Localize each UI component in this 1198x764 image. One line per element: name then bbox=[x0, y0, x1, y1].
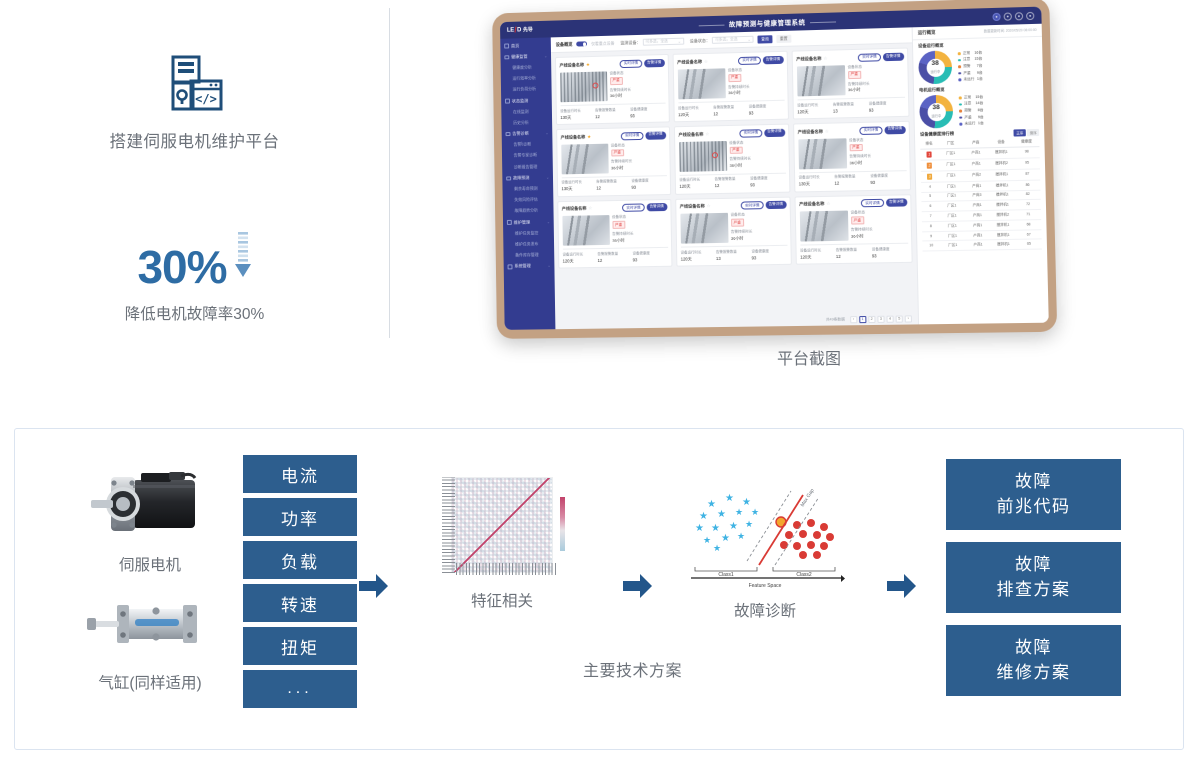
device-photo bbox=[562, 216, 610, 247]
device-card[interactable]: 产线设备名称 ☆ 实时详情 告警详情 bbox=[673, 51, 789, 122]
duration-value: 36小时 bbox=[611, 164, 666, 171]
sidebar-item-label: 健康度分析 bbox=[512, 64, 532, 70]
sidebar-group-label: 状态监测 bbox=[512, 98, 528, 104]
bell-icon[interactable]: ● bbox=[1004, 12, 1012, 20]
status-filter-placeholder: 可多选，全选 bbox=[715, 37, 738, 43]
status-badge: 严重 bbox=[729, 146, 742, 154]
help-icon[interactable]: ● bbox=[1015, 12, 1023, 20]
foot-value: 120天 bbox=[679, 183, 714, 190]
foot-label: 告警报警数量 bbox=[716, 249, 752, 255]
legend-row: 注意14台 bbox=[959, 101, 983, 107]
foot-cell: 告警报警数量12 bbox=[713, 104, 749, 117]
cell-health: 65 bbox=[1016, 242, 1042, 248]
col-vendor: 产商 bbox=[963, 141, 988, 147]
foot-label: 告警报警数量 bbox=[834, 174, 870, 180]
donut-chart-row: 38 运行中 正常16台 注意15台 预警7台 严重9台 bbox=[918, 48, 1038, 84]
page-button-4[interactable]: 4 bbox=[886, 315, 893, 322]
sidebar-item-label: 失效风险评估 bbox=[514, 197, 537, 203]
col-rank: 排名 bbox=[920, 142, 938, 147]
prev-page-button[interactable]: ‹ bbox=[850, 316, 857, 323]
top-section: </> 搭建伺服电机维护平台 30% bbox=[0, 0, 1198, 400]
tablet-device: LE / D 先导 故障预测与健康管理系统 ● ● ● ● bbox=[492, 0, 1057, 339]
sidebar-item-label: 首页 bbox=[511, 43, 519, 49]
cell-plant: 厂区1 bbox=[940, 223, 965, 229]
foot-value: 93 bbox=[750, 182, 786, 188]
cell-health: 95 bbox=[1014, 160, 1040, 167]
foot-cell: 告警报警数量12 bbox=[715, 177, 751, 190]
card-body: 设备状态 严重 告警持续时长 36小时 bbox=[677, 67, 784, 100]
card-body: 设备状态 严重 告警持续时长 36小时 bbox=[562, 214, 668, 246]
realtime-detail-button[interactable]: 实时详情 bbox=[620, 59, 642, 68]
status-badge: 严重 bbox=[848, 71, 861, 79]
cell-plant: 厂区1 bbox=[939, 213, 964, 219]
card-row: 产线设备名称 ★ 实时详情 告警详情 bbox=[555, 48, 910, 125]
donut-legend: 正常15台 注意14台 预警8台 严重9台 未运行1台 bbox=[959, 95, 984, 127]
page-button-3[interactable]: 3 bbox=[877, 315, 884, 322]
star-icon[interactable]: ★ bbox=[586, 62, 590, 68]
reset-button[interactable]: 重置 bbox=[776, 34, 791, 43]
cell-plant: 厂区1 bbox=[938, 162, 963, 169]
device-card[interactable]: 产线设备名称 ☆ 实时详情 告警详情 bbox=[557, 199, 672, 269]
card-buttons: 实时详情 告警详情 bbox=[740, 128, 785, 137]
tab-descending[interactable]: 倒序 bbox=[1027, 129, 1039, 136]
foot-label: 设备运行时长 bbox=[561, 180, 596, 186]
legend-dot bbox=[958, 59, 961, 62]
cell-device: 搅拌机1 bbox=[990, 202, 1016, 208]
stat-percent-caption: 降低电机故障率30% bbox=[125, 302, 265, 324]
device-photo bbox=[561, 143, 608, 174]
source-label: 气缸(同样适用) bbox=[98, 671, 201, 693]
donut-legend: 正常16台 注意15台 预警7台 严重9台 未运行1台 bbox=[958, 50, 983, 82]
foot-label: 设备运行时长 bbox=[562, 252, 597, 258]
status-filter-select[interactable]: 可多选，全选 ⌄ bbox=[712, 36, 754, 44]
status-badge: 严重 bbox=[731, 219, 744, 227]
svg-text:</>: </> bbox=[195, 92, 217, 106]
realtime-detail-button[interactable]: 实时详情 bbox=[741, 201, 763, 210]
card-header: 产线设备名称 ☆ 实时详情 告警详情 bbox=[677, 56, 783, 67]
alarm-detail-button[interactable]: 告警详情 bbox=[644, 59, 665, 68]
card-body: 设备状态 严重 告警持续时长 36小时 bbox=[561, 142, 667, 174]
search-button[interactable]: 查询 bbox=[758, 35, 773, 44]
card-stats: 设备状态 严重 告警持续时长 36小时 bbox=[850, 210, 907, 241]
param-box-load: 负载 bbox=[243, 541, 357, 579]
card-buttons: 实时详情 告警详情 bbox=[621, 131, 666, 140]
star-icon[interactable]: ★ bbox=[587, 134, 591, 140]
key-devices-toggle[interactable] bbox=[576, 41, 587, 47]
page-button-5[interactable]: 5 bbox=[896, 315, 903, 322]
device-filter-select[interactable]: 可多选，全选 ⌄ bbox=[642, 38, 683, 46]
status-label: 设备状态 bbox=[728, 67, 784, 73]
foot-cell: 设备运行时长130天 bbox=[799, 175, 835, 188]
foot-value: 93 bbox=[631, 184, 666, 190]
foot-cell: 设备健康度93 bbox=[869, 100, 905, 113]
legend-value: 15台 bbox=[974, 57, 982, 62]
card-body: 设备状态 严重 告警持续时长 36小时 bbox=[798, 137, 906, 169]
alarm-detail-button[interactable]: 告警详情 bbox=[886, 199, 907, 208]
card-footer: 设备运行时长120天 告警报警数量13 设备健康度93 bbox=[797, 97, 905, 115]
cell-rank: 6 bbox=[922, 204, 940, 209]
device-card[interactable]: 产线设备名称 ☆ 实时详情 告警详情 bbox=[674, 124, 791, 195]
cell-health: 82 bbox=[1015, 192, 1041, 198]
card-header: 产线设备名称 ☆ 实时详情 告警详情 bbox=[562, 203, 667, 213]
legend-row: 正常15台 bbox=[959, 95, 983, 101]
cell-vendor: 产商1 bbox=[963, 151, 988, 158]
cell-health: 67 bbox=[1016, 232, 1042, 238]
sidebar-item-label: 诊断报告管理 bbox=[514, 164, 537, 170]
platform-screenshot: LE / D 先导 故障预测与健康管理系统 ● ● ● ● bbox=[500, 7, 1049, 330]
foot-cell: 设备运行时长120天 bbox=[562, 252, 597, 264]
cell-device: 搅拌机1 bbox=[990, 193, 1016, 199]
legend-value: 1台 bbox=[978, 121, 984, 126]
cell-health: 68 bbox=[1016, 222, 1042, 228]
cell-rank: 8 bbox=[922, 224, 940, 229]
chevron-down-icon: ⌄ bbox=[546, 131, 549, 135]
alarm-detail-button[interactable]: 告警详情 bbox=[763, 56, 784, 65]
output-line-2: 排查方案 bbox=[997, 578, 1071, 603]
class2-label: Class2 bbox=[796, 572, 812, 578]
svg-text:★: ★ bbox=[699, 511, 708, 522]
output-line-1: 故障 bbox=[1015, 553, 1052, 578]
device-card[interactable]: 产线设备名称 ☆ 实时详情 告警详情 bbox=[792, 48, 910, 120]
output-line-1: 故障 bbox=[1015, 636, 1052, 661]
arrow-icon-2 bbox=[623, 573, 653, 599]
alarm-detail-button[interactable]: 告警详情 bbox=[765, 201, 786, 210]
foot-value: 12 bbox=[715, 183, 751, 189]
foot-value: 13 bbox=[716, 255, 752, 261]
card-footer: 设备运行时长120天 告警报警数量12 设备健康度93 bbox=[679, 172, 786, 190]
rank-medal-icon: 1 bbox=[927, 152, 932, 158]
settings-icon[interactable]: ● bbox=[1026, 11, 1034, 19]
star-icon[interactable]: ☆ bbox=[826, 201, 830, 207]
source-column: 伺服电机 bbox=[75, 463, 225, 693]
output-box-repair-plan: 故障 维修方案 bbox=[946, 625, 1121, 696]
vertical-divider bbox=[389, 8, 390, 338]
device-name: 产线设备名称 bbox=[561, 134, 586, 140]
donut-center: 38 运行中 bbox=[918, 50, 952, 84]
card-body: 设备状态 严重 告警持续时长 36小时 bbox=[799, 210, 907, 242]
foot-value: 93 bbox=[872, 253, 908, 259]
device-name: 产线设备名称 bbox=[798, 128, 823, 135]
alarm-detail-button[interactable]: 告警详情 bbox=[646, 203, 667, 212]
update-time: 数据更新时间: 2020/05/20 08:00:00 bbox=[984, 27, 1037, 33]
sidebar-item-label: 剩余寿命预测 bbox=[514, 186, 537, 192]
col-device: 设备 bbox=[988, 140, 1014, 146]
card-stats: 设备状态 严重 告警持续时长 36小时 bbox=[611, 142, 667, 173]
card-buttons: 实时详情 告警详情 bbox=[858, 53, 904, 62]
realtime-detail-button[interactable]: 实时详情 bbox=[738, 56, 760, 65]
device-card[interactable]: 产线设备名称 ☆ 实时详情 告警详情 bbox=[675, 196, 792, 267]
overview-title: 设备概览 bbox=[556, 41, 573, 47]
foot-cell: 告警报警数量13 bbox=[833, 101, 869, 114]
svg-text:★: ★ bbox=[735, 507, 743, 517]
cell-vendor: 产商1 bbox=[964, 161, 989, 168]
device-name: 产线设备名称 bbox=[680, 204, 705, 210]
legend-row: 预警8台 bbox=[959, 108, 983, 114]
status-badge: 严重 bbox=[612, 221, 625, 229]
status-label: 设备状态 bbox=[609, 70, 664, 76]
cell-vendor: 产商1 bbox=[965, 243, 990, 248]
legend-row: 严重9台 bbox=[959, 115, 983, 121]
alarm-detail-button[interactable]: 告警详情 bbox=[883, 53, 904, 62]
status-label: 设备状态 bbox=[847, 64, 903, 70]
sidebar-group-system[interactable]: 系统管理 ⌄ bbox=[504, 260, 555, 272]
param-box-power: 功率 bbox=[243, 498, 357, 536]
cell-health: 87 bbox=[1015, 171, 1041, 178]
page-button-2[interactable]: 2 bbox=[868, 315, 875, 322]
svm-classification-chart: ★★ ★★ ★★ ★★ ★★ ★★ ★★ ★ bbox=[685, 485, 845, 589]
duration-value: 36小时 bbox=[728, 89, 784, 96]
tab-ascending[interactable]: 正序 bbox=[1014, 129, 1026, 136]
chevron-down-icon: ⌄ bbox=[546, 175, 549, 179]
sidebar-item-maintain-0[interactable]: 维护任务监控 bbox=[503, 227, 554, 239]
status-filter-label: 设备状态： bbox=[690, 38, 710, 45]
status-badge: 严重 bbox=[728, 74, 741, 82]
svg-text:★: ★ bbox=[737, 531, 745, 541]
foot-label: 设备健康度 bbox=[869, 100, 905, 106]
status-label: 设备状态 bbox=[730, 212, 786, 218]
foot-label: 告警报警数量 bbox=[715, 177, 751, 183]
chevron-down-icon: ⌄ bbox=[544, 54, 547, 58]
donut-value: 38 bbox=[931, 61, 938, 68]
device-filter: 监测设备： 可多选，全选 ⌄ bbox=[620, 38, 684, 47]
status-badge: 严重 bbox=[610, 77, 623, 85]
status-badge: 严重 bbox=[849, 144, 862, 152]
sidebar-item-label: 在线监测 bbox=[513, 109, 529, 115]
sidebar-item-maintain-1[interactable]: 维护任务发布 bbox=[503, 238, 554, 250]
card-row: 产线设备名称 ★ 实时详情 告警详情 bbox=[556, 121, 911, 197]
sidebar-item-maintain-2[interactable]: 备件库存管理 bbox=[503, 249, 554, 261]
duration-value: 36小时 bbox=[612, 237, 667, 244]
cell-device: 搅拌机2 bbox=[989, 161, 1015, 168]
ranking-tabs: 正序 倒序 bbox=[1014, 129, 1039, 136]
card-body: 设备状态 严重 告警持续时长 36小时 bbox=[560, 70, 665, 102]
device-card[interactable]: 产线设备名称 ☆ 实时详情 告警详情 bbox=[793, 121, 911, 192]
cell-rank: 3 bbox=[921, 173, 939, 179]
sidebar-item-label: 故障趋势分析 bbox=[514, 208, 537, 214]
foot-label: 设备健康度 bbox=[751, 249, 787, 255]
legend-row: 注意15台 bbox=[958, 57, 982, 63]
legend-value: 9台 bbox=[978, 115, 984, 120]
device-donut-chart: 38 运行中 bbox=[918, 50, 952, 84]
axis-label: Feature Space bbox=[749, 583, 782, 589]
foot-cell: 设备运行时长120天 bbox=[679, 177, 715, 190]
card-stats: 设备状态 严重 告警持续时长 36小时 bbox=[849, 137, 906, 168]
foot-cell: 设备健康度93 bbox=[631, 178, 666, 191]
duration-value: 36小时 bbox=[849, 159, 906, 166]
parameter-column: 电流 功率 负载 转速 扭矩 ... bbox=[243, 455, 357, 708]
star-icon[interactable]: ☆ bbox=[704, 59, 708, 65]
device-card[interactable]: 产线设备名称 ★ 实时详情 告警详情 bbox=[556, 126, 671, 197]
cell-rank: 10 bbox=[922, 243, 940, 248]
legend-dot bbox=[958, 79, 961, 82]
card-stats: 设备状态 严重 告警持续时长 36小时 bbox=[612, 214, 668, 245]
legend-dot bbox=[958, 52, 961, 55]
stage-caption: 故障诊断 bbox=[734, 599, 796, 621]
foot-label: 设备健康度 bbox=[631, 178, 666, 184]
device-card[interactable]: 产线设备名称 ★ 实时详情 告警详情 bbox=[555, 54, 670, 125]
stage-caption: 特征相关 bbox=[471, 589, 533, 611]
device-photo bbox=[799, 211, 848, 242]
foot-value: 130天 bbox=[799, 181, 835, 188]
legend-label: 预警 bbox=[963, 64, 970, 69]
param-box-more: ... bbox=[243, 670, 357, 708]
table-row[interactable]: 10厂区1产商1搅拌机165 bbox=[922, 240, 1042, 252]
cell-device: 搅拌机2 bbox=[990, 212, 1016, 218]
output-line-2: 维修方案 bbox=[997, 661, 1071, 686]
sidebar-group-label: 告警诊断 bbox=[512, 131, 528, 137]
legend-label: 未运行 bbox=[963, 77, 974, 82]
system-icon bbox=[508, 264, 512, 269]
foot-label: 设备运行时长 bbox=[799, 175, 835, 181]
param-box-current: 电流 bbox=[243, 455, 357, 493]
card-footer: 设备运行时长120天 告警报警数量13 设备健康度93 bbox=[681, 245, 788, 262]
cell-health: 86 bbox=[1015, 182, 1041, 188]
duration-value: 36小时 bbox=[851, 232, 908, 239]
stage-diagnosis: ★★ ★★ ★★ ★★ ★★ ★★ ★★ ★ bbox=[675, 485, 855, 621]
legend-label: 预警 bbox=[964, 108, 971, 113]
legend-dot bbox=[959, 116, 962, 119]
foot-cell: 设备健康度93 bbox=[751, 249, 787, 262]
foot-value: 120天 bbox=[678, 111, 713, 118]
class1-stars: ★★ ★★ ★★ ★★ ★★ ★★ ★★ ★ bbox=[695, 493, 759, 553]
app-body: 首页 健康监管 ⌄ 健康度分析 运行效率分析 运行负荷分析 状态监测 bbox=[500, 24, 1049, 330]
foot-value: 93 bbox=[869, 106, 905, 112]
sidebar-group-label: 故障预测 bbox=[513, 175, 529, 181]
next-page-button[interactable]: › bbox=[905, 315, 912, 322]
ranking-title: 设备健康度排行榜 bbox=[920, 131, 954, 138]
card-header: 产线设备名称 ☆ 实时详情 告警详情 bbox=[678, 128, 784, 139]
legend-dot bbox=[958, 72, 961, 75]
platform-caption: 搭建伺服电机维护平台 bbox=[110, 128, 280, 152]
card-buttons: 实时详情 告警详情 bbox=[738, 56, 783, 65]
status-label: 设备状态 bbox=[850, 210, 907, 216]
sidebar-group-label: 系统管理 bbox=[514, 263, 530, 269]
star-icon[interactable]: ☆ bbox=[825, 128, 829, 134]
device-overview-section: 设备运行概览 38 运行中 正常16台 bbox=[913, 37, 1043, 85]
device-photo bbox=[680, 213, 728, 244]
foot-label: 设备运行时长 bbox=[797, 102, 833, 108]
motor-donut-chart: 38 运行中 bbox=[919, 95, 953, 129]
foot-value: 13 bbox=[833, 107, 869, 113]
foot-value: 130天 bbox=[560, 114, 595, 121]
card-body: 设备状态 严重 告警持续时长 36小时 bbox=[679, 139, 786, 171]
rank-medal-icon: 3 bbox=[927, 173, 932, 179]
device-card[interactable]: 产线设备名称 ☆ 实时详情 告警详情 bbox=[794, 194, 912, 265]
sidebar-group-label: 健康监管 bbox=[511, 54, 527, 60]
card-buttons: 实时详情 告警详情 bbox=[860, 125, 906, 134]
code-window-icon: </> bbox=[162, 55, 228, 113]
realtime-detail-button[interactable]: 实时详情 bbox=[622, 204, 644, 213]
heatmap-grid bbox=[451, 477, 553, 573]
foot-value: 120天 bbox=[681, 256, 716, 263]
legend-row: 未运行1台 bbox=[959, 121, 983, 127]
realtime-detail-button[interactable]: 实时详情 bbox=[740, 129, 762, 138]
foot-value: 12 bbox=[595, 113, 630, 119]
foot-value: 93 bbox=[870, 179, 906, 185]
page-button-1[interactable]: 1 bbox=[859, 316, 866, 323]
status-label: 设备状态 bbox=[849, 137, 906, 143]
cell-rank: 2 bbox=[921, 162, 939, 168]
card-body: 设备状态 严重 告警持续时长 36小时 bbox=[796, 64, 904, 97]
card-footer: 设备运行时长120天 告警报警数量12 设备健康度93 bbox=[678, 100, 784, 118]
realtime-detail-button[interactable]: 实时详情 bbox=[858, 53, 881, 62]
realtime-detail-button[interactable]: 实时详情 bbox=[861, 199, 884, 208]
left-stats-column: </> 搭建伺服电机维护平台 30% bbox=[0, 0, 389, 380]
star-icon[interactable]: ☆ bbox=[588, 206, 592, 212]
alarm-detail-button[interactable]: 告警详情 bbox=[764, 128, 785, 137]
heatmap-colorbar bbox=[560, 497, 565, 551]
card-buttons: 实时详情 告警详情 bbox=[861, 199, 907, 208]
user-icon[interactable]: ● bbox=[992, 12, 1000, 20]
card-stats: 设备状态 严重 告警持续时长 36小时 bbox=[847, 64, 904, 95]
star-icon[interactable]: ☆ bbox=[823, 56, 827, 62]
fault-marker-icon bbox=[592, 83, 598, 89]
card-buttons: 实时详情 告警详情 bbox=[620, 59, 665, 68]
foot-label: 告警报警数量 bbox=[836, 247, 872, 253]
sidebar: 首页 健康监管 ⌄ 健康度分析 运行效率分析 运行负荷分析 状态监测 bbox=[500, 37, 555, 329]
legend-row: 预警7台 bbox=[958, 64, 982, 70]
realtime-detail-button[interactable]: 实时详情 bbox=[621, 132, 643, 141]
device-filter-label: 监测设备： bbox=[620, 40, 640, 46]
card-body: 设备状态 严重 告警持续时长 36小时 bbox=[680, 212, 787, 244]
legend-row: 正常16台 bbox=[958, 50, 982, 56]
cell-rank: 1 bbox=[920, 152, 938, 158]
cell-plant: 厂区1 bbox=[939, 184, 964, 190]
chevron-down-icon: ⌄ bbox=[548, 264, 551, 268]
card-header: 产线设备名称 ☆ 实时详情 告警详情 bbox=[680, 201, 787, 211]
donut-center: 38 运行中 bbox=[919, 95, 953, 129]
cell-plant: 厂区1 bbox=[939, 194, 964, 200]
cell-vendor: 产商1 bbox=[964, 203, 989, 209]
output-line-2: 前兆代码 bbox=[997, 495, 1071, 520]
source-servo-motor: 伺服电机 bbox=[81, 463, 219, 575]
sidebar-group-maintain[interactable]: 维护管理 ⌄ bbox=[503, 216, 554, 228]
alarm-detail-button[interactable]: 告警详情 bbox=[645, 131, 666, 140]
svg-text:★: ★ bbox=[707, 499, 716, 510]
foot-cell: 设备运行时长120天 bbox=[678, 105, 714, 118]
realtime-detail-button[interactable]: 实时详情 bbox=[860, 126, 883, 135]
alarm-detail-button[interactable]: 告警详情 bbox=[884, 125, 905, 134]
foot-label: 设备健康度 bbox=[750, 176, 786, 182]
output-line-1: 故障 bbox=[1015, 470, 1052, 495]
cell-device: 搅拌机1 bbox=[989, 172, 1015, 179]
cell-vendor: 产商1 bbox=[965, 213, 990, 219]
card-row: 产线设备名称 ☆ 实时详情 告警详情 bbox=[557, 194, 912, 269]
cell-device: 搅拌机1 bbox=[990, 222, 1016, 228]
star-icon[interactable]: ☆ bbox=[705, 131, 709, 137]
legend-value: 8台 bbox=[978, 108, 984, 113]
foot-label: 设备健康度 bbox=[630, 106, 665, 112]
legend-label: 注意 bbox=[963, 57, 970, 62]
foot-label: 设备运行时长 bbox=[800, 248, 836, 254]
foot-value: 120天 bbox=[563, 258, 598, 265]
device-photo bbox=[796, 65, 845, 96]
foot-cell: 设备运行时长120天 bbox=[681, 250, 717, 263]
card-footer: 设备运行时长120天 告警报警数量12 设备健康度93 bbox=[800, 243, 908, 260]
arrow-icon-1 bbox=[359, 573, 389, 599]
svg-text:★: ★ bbox=[742, 497, 751, 508]
card-stats: 设备状态 严重 告警持续时长 36小时 bbox=[730, 212, 786, 243]
status-label: 设备状态 bbox=[729, 139, 785, 145]
device-name: 产线设备名称 bbox=[796, 56, 821, 63]
legend-value: 15台 bbox=[975, 95, 983, 100]
foot-label: 告警报警数量 bbox=[596, 179, 631, 185]
star-icon[interactable]: ☆ bbox=[707, 204, 711, 210]
device-name: 产线设备名称 bbox=[677, 59, 702, 66]
foot-cell: 设备运行时长120天 bbox=[800, 248, 836, 261]
legend-value: 1台 bbox=[977, 77, 983, 82]
device-filter-placeholder: 可多选，全选 bbox=[645, 39, 668, 45]
